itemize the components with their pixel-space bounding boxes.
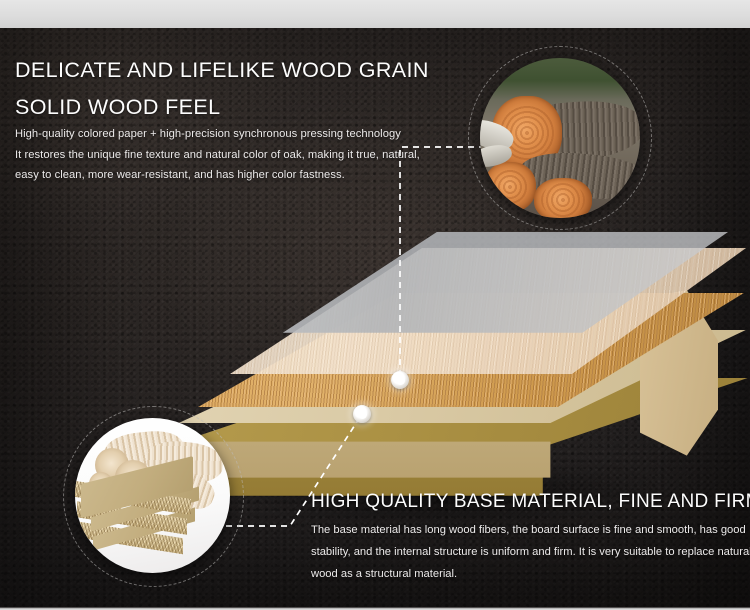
bottom-heading-block: HIGH QUALITY BASE MATERIAL, FINE AND FIR… — [311, 489, 741, 515]
log-end-2 — [484, 162, 536, 212]
top-heading-line-2: SOLID WOOD FEEL — [15, 89, 445, 126]
top-body-line-3: easy to clean, more wear-resistant, and … — [15, 165, 435, 186]
base-material-callout-dot[interactable] — [353, 405, 371, 423]
top-body-line-2: It restores the unique fine texture and … — [15, 145, 435, 166]
stacked-oak-logs-photo[interactable] — [480, 58, 640, 218]
log-end-3 — [534, 178, 592, 218]
bottom-body-block: The base material has long wood fibers, … — [311, 519, 736, 585]
wood-grain-surface-callout-dot[interactable] — [391, 371, 409, 389]
bottom-body-line-1: The base material has long wood fibers, … — [311, 519, 736, 541]
bottom-body-line-3: wood as a structural material. — [311, 563, 736, 585]
top-heading-line-1: DELICATE AND LIFELIKE WOOD GRAIN — [15, 52, 445, 89]
bottom-heading: HIGH QUALITY BASE MATERIAL, FINE AND FIR… — [311, 489, 741, 515]
top-heading-block: DELICATE AND LIFELIKE WOOD GRAIN SOLID W… — [15, 52, 445, 126]
bottom-body-line-2: stability, and the internal structure is… — [311, 541, 736, 563]
infographic-canvas: DELICATE AND LIFELIKE WOOD GRAIN SOLID W… — [0, 0, 750, 610]
top-body-block: High-quality colored paper + high-precis… — [15, 124, 435, 186]
top-body-line-1: High-quality colored paper + high-precis… — [15, 124, 435, 145]
particle-board-slabs-photo[interactable] — [75, 418, 230, 573]
